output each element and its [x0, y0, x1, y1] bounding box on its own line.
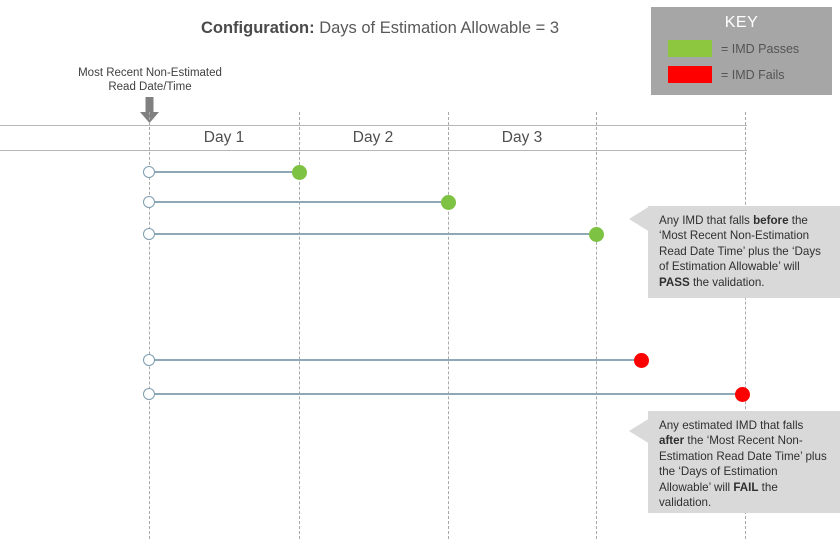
key-legend: KEY = IMD Passes = IMD Fails: [651, 7, 832, 95]
pass-callout: Any IMD that falls before the ‘Most Rece…: [648, 206, 840, 298]
fail-callout: Any estimated IMD that falls after the ‘…: [648, 411, 840, 513]
page-title: Configuration: Days of Estimation Allowa…: [120, 19, 640, 38]
imd-fail-row-1-track: [149, 359, 641, 361]
imd-pass-row-2-start-marker: [143, 196, 155, 208]
imd-pass-row-2-track: [149, 201, 448, 203]
pass-callout-tail: [629, 206, 650, 232]
day-label-2: Day 2: [298, 127, 448, 149]
title-rest-label: Days of Estimation Allowable = 3: [315, 19, 559, 37]
imd-fail-row-2-track: [149, 393, 742, 395]
imd-pass-row-3-start-marker: [143, 228, 155, 240]
timeline-header-band: Day 1 Day 2 Day 3: [0, 125, 747, 151]
imd-fail-row-1-start-marker: [143, 354, 155, 366]
imd-fail-row-1-end-marker: [634, 353, 649, 368]
day-label-1: Day 1: [149, 127, 299, 149]
day-divider-3: [596, 112, 597, 539]
imd-pass-row-3-track: [149, 233, 596, 235]
pass-swatch-icon: [668, 40, 712, 57]
key-item-pass-label: = IMD Passes: [721, 42, 799, 56]
imd-pass-row-1-end-marker: [292, 165, 307, 180]
key-item-fail: = IMD Fails: [651, 66, 832, 83]
imd-fail-row-2-end-marker: [735, 387, 750, 402]
imd-fail-row-2-start-marker: [143, 388, 155, 400]
imd-pass-row-3-end-marker: [589, 227, 604, 242]
fail-callout-text: Any estimated IMD that falls after the ‘…: [659, 419, 827, 509]
imd-pass-row-1-start-marker: [143, 166, 155, 178]
diagram-canvas: Configuration: Days of Estimation Allowa…: [0, 0, 840, 539]
source-annotation-line-1: Most Recent Non-Estimated: [55, 66, 245, 80]
fail-callout-tail: [629, 418, 650, 444]
fail-swatch-icon: [668, 66, 712, 83]
imd-pass-row-1-track: [149, 171, 299, 173]
day-label-3: Day 3: [447, 127, 597, 149]
source-annotation-line-2: Read Date/Time: [55, 80, 245, 94]
key-item-fail-label: = IMD Fails: [721, 68, 785, 82]
key-heading: KEY: [651, 7, 832, 31]
day-divider-2: [448, 112, 449, 539]
source-annotation: Most Recent Non-Estimated Read Date/Time: [55, 66, 245, 94]
imd-pass-row-2-end-marker: [441, 195, 456, 210]
title-bold-label: Configuration:: [201, 19, 315, 37]
key-item-pass: = IMD Passes: [651, 40, 832, 57]
pass-callout-text: Any IMD that falls before the ‘Most Rece…: [659, 214, 821, 289]
